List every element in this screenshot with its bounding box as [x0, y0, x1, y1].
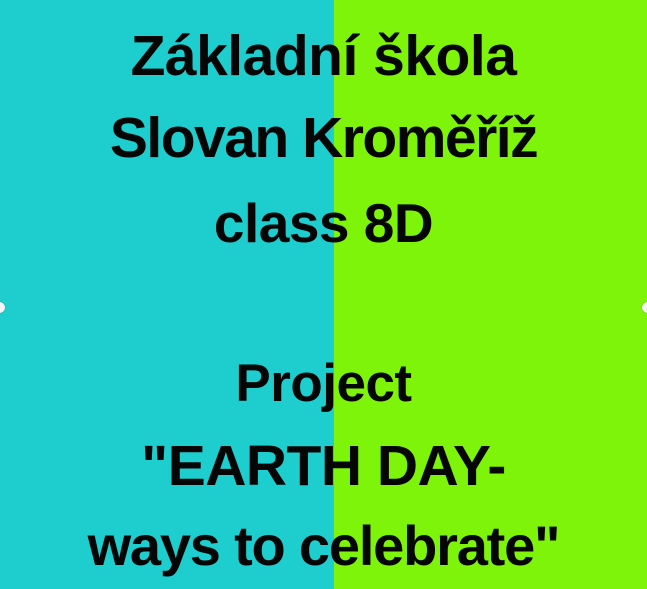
school-name-line-1: Základní škola — [0, 28, 647, 85]
project-label: Project — [0, 357, 647, 410]
project-title-line-2: ways to celebrate" — [0, 518, 647, 574]
school-name-line-2: Slovan Kroměříž — [0, 110, 647, 167]
presentation-slide[interactable]: Základní škola Slovan Kroměříž class 8D … — [0, 0, 647, 589]
class-line: class 8D — [0, 196, 647, 251]
slide-text-block: Základní škola Slovan Kroměříž class 8D … — [0, 0, 647, 589]
crop-handle-right[interactable] — [642, 302, 647, 313]
project-title-line-1: "EARTH DAY- — [0, 438, 647, 495]
